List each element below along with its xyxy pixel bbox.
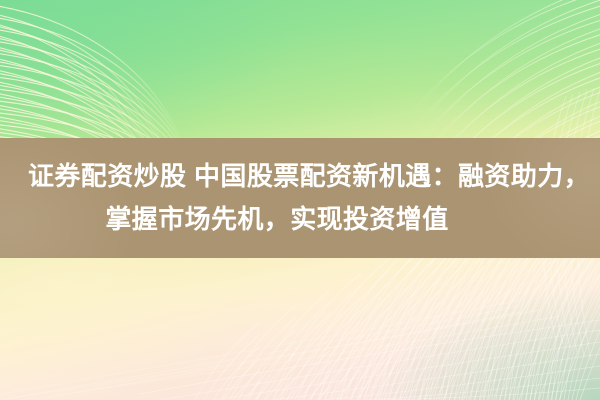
caption-text-block: 证券配资炒股 中国股票配资新机遇：融资助力， 掌握市场先机，实现投资增值: [0, 138, 600, 258]
banner-canvas: 证券配资炒股 中国股票配资新机遇：融资助力， 掌握市场先机，实现投资增值: [0, 0, 600, 400]
caption-line-1: 证券配资炒股 中国股票配资新机遇：融资助力，: [22, 155, 578, 198]
caption-band: 证券配资炒股 中国股票配资新机遇：融资助力， 掌握市场先机，实现投资增值: [0, 138, 600, 258]
caption-line-2: 掌握市场先机，实现投资增值: [22, 198, 578, 241]
wave-group-bottom-left: [0, 300, 560, 400]
